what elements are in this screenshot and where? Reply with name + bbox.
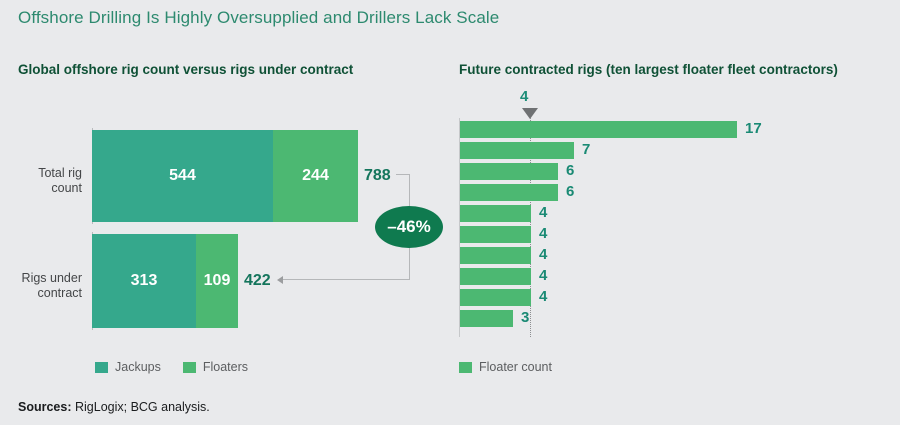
- bar-row: [460, 247, 531, 264]
- legend-item-floater-count[interactable]: Floater count: [459, 360, 552, 374]
- right-chart-title: Future contracted rigs (ten largest floa…: [459, 62, 838, 77]
- bar-row: [460, 184, 558, 201]
- bar-row: [460, 268, 531, 285]
- left-chart-title: Global offshore rig count versus rigs un…: [18, 62, 353, 77]
- bar-row: [460, 163, 558, 180]
- legend-label-floater-count: Floater count: [479, 360, 552, 374]
- slide: Offshore Drilling Is Highly Oversupplied…: [0, 0, 900, 425]
- legend-label-jackups: Jackups: [115, 360, 161, 374]
- bar-row: [460, 205, 531, 222]
- legend-label-floaters: Floaters: [203, 360, 248, 374]
- bar-value: 17: [745, 120, 762, 137]
- bar-row: [460, 142, 574, 159]
- bar-value: 4: [539, 288, 547, 305]
- bar-value: 4: [539, 267, 547, 284]
- legend-swatch-floaters-icon: [183, 362, 196, 373]
- bar-row: [460, 289, 531, 306]
- bar-value: 6: [566, 183, 574, 200]
- right-chart-legend: Floater count: [459, 360, 552, 374]
- right-chart: 4 17 7 6 6 4 4 4 4 4 3: [0, 118, 900, 348]
- bar-value: 4: [539, 225, 547, 242]
- marker-value-label: 4: [520, 88, 528, 105]
- bar-value: 6: [566, 162, 574, 179]
- legend-swatch-jackups-icon: [95, 362, 108, 373]
- sources-note: Sources: RigLogix; BCG analysis.: [18, 400, 210, 414]
- bar-value: 7: [582, 141, 590, 158]
- sources-label: Sources:: [18, 400, 72, 414]
- legend-swatch-floater-count-icon: [459, 362, 472, 373]
- legend-item-floaters[interactable]: Floaters: [183, 360, 248, 374]
- bar-row: [460, 226, 531, 243]
- bar-value: 4: [539, 246, 547, 263]
- sources-text: RigLogix; BCG analysis.: [75, 400, 210, 414]
- left-chart-legend: Jackups Floaters: [95, 360, 248, 374]
- bar-row: [460, 121, 737, 138]
- legend-item-jackups[interactable]: Jackups: [95, 360, 161, 374]
- bar-row: [460, 310, 513, 327]
- bar-value: 3: [521, 309, 529, 326]
- bar-value: 4: [539, 204, 547, 221]
- page-title: Offshore Drilling Is Highly Oversupplied…: [18, 8, 499, 28]
